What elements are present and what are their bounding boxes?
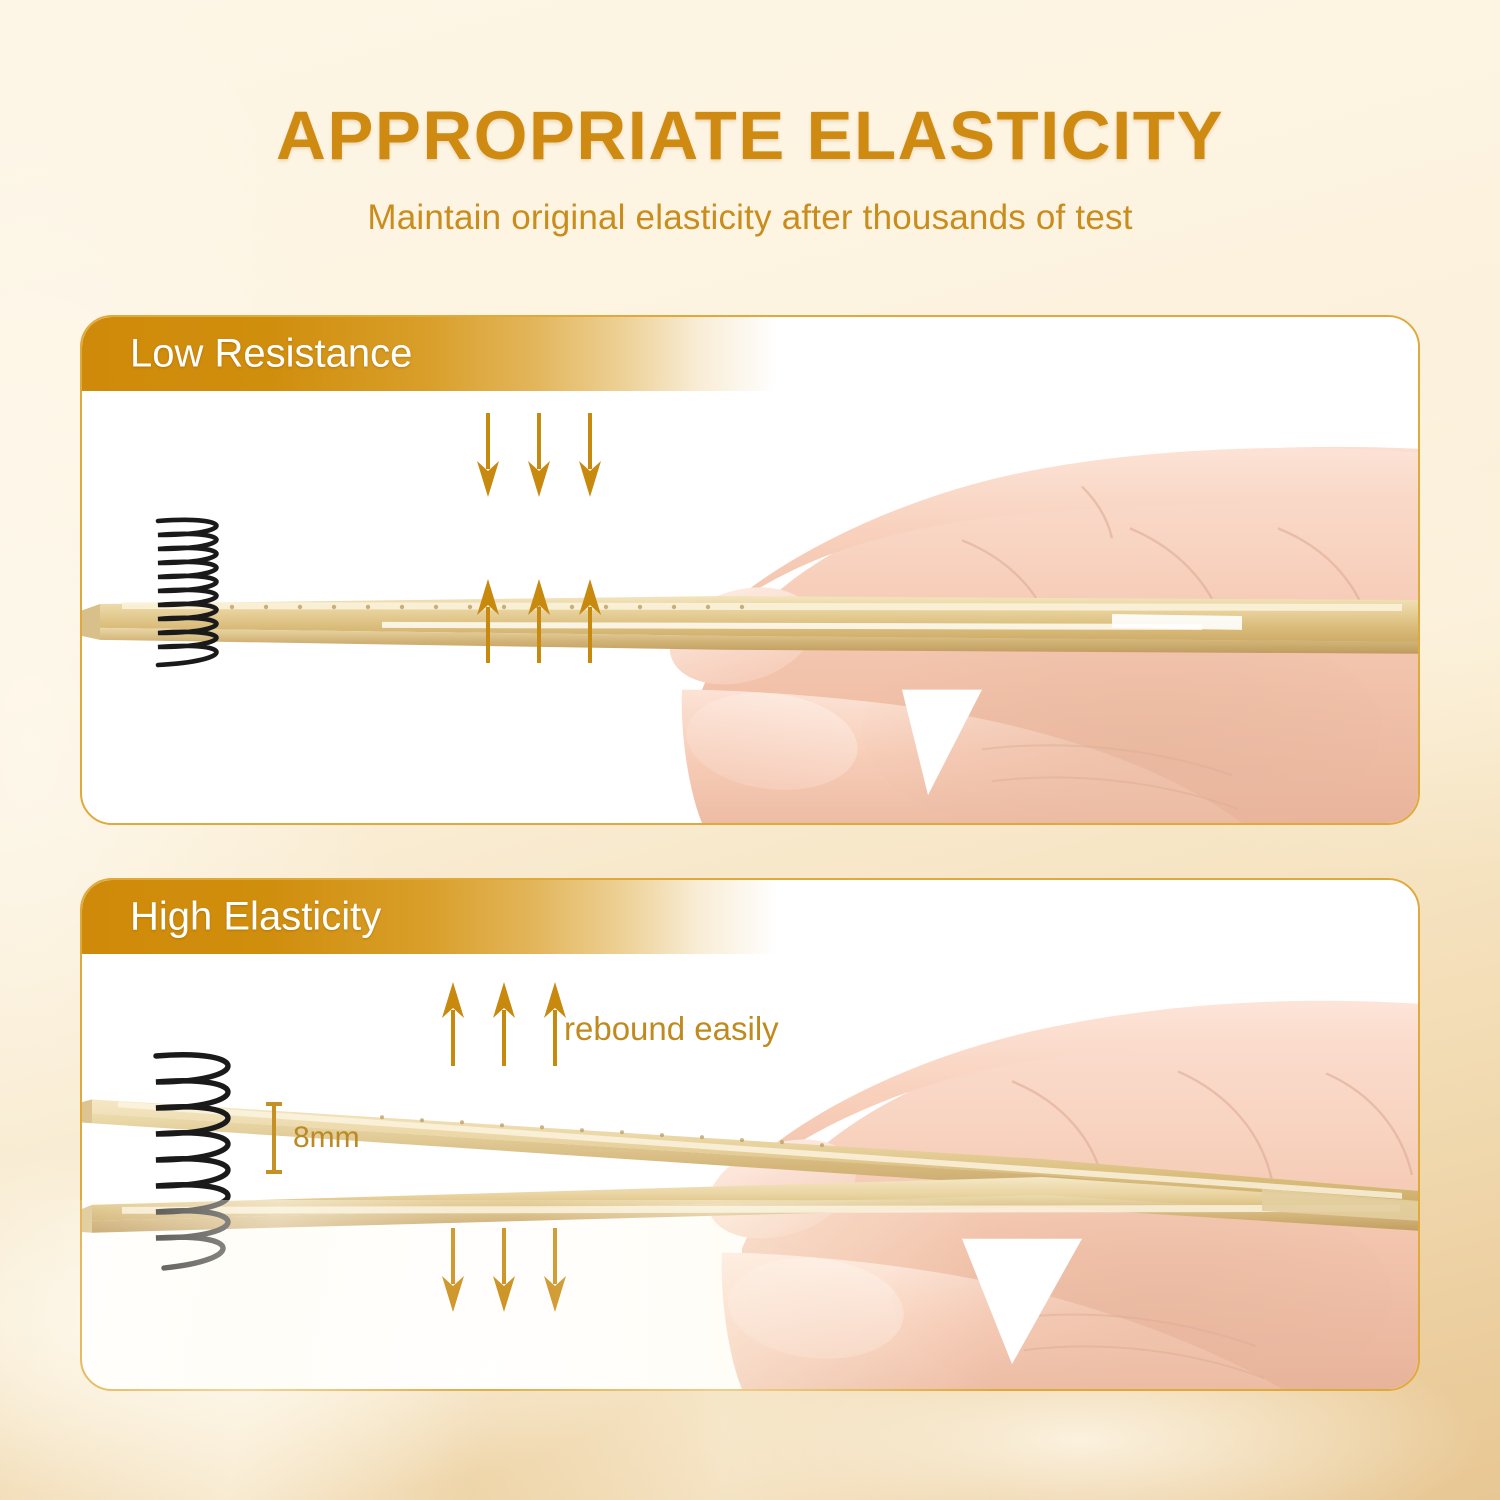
page-title: APPROPRIATE ELASTICITY bbox=[0, 96, 1500, 175]
panel-banner-label-low: Low Resistance bbox=[130, 332, 412, 377]
arrow-up-icon bbox=[442, 982, 464, 1066]
arrow-group-down-low bbox=[477, 413, 601, 497]
arrow-up-icon bbox=[528, 579, 550, 663]
arrow-down-icon bbox=[493, 1228, 515, 1312]
compressed-spring-icon bbox=[140, 513, 250, 673]
arrow-up-icon bbox=[544, 982, 566, 1066]
arrow-group-up-low bbox=[477, 579, 601, 663]
dimension-bar-icon bbox=[264, 1102, 284, 1174]
panel-banner-label-high: High Elasticity bbox=[130, 895, 381, 940]
infographic-canvas: APPROPRIATE ELASTICITY Maintain original… bbox=[0, 0, 1500, 1500]
panel-banner-high: High Elasticity bbox=[82, 880, 1418, 954]
page-subtitle: Maintain original elasticity after thous… bbox=[0, 198, 1500, 238]
arrow-down-icon bbox=[544, 1228, 566, 1312]
arrow-group-down-high bbox=[442, 1228, 566, 1312]
arrow-down-icon bbox=[579, 413, 601, 497]
expanded-spring-icon bbox=[134, 1046, 269, 1276]
panel-body-high: rebound easily 8mm bbox=[82, 954, 1418, 1389]
panel-low-resistance: Low Resistance bbox=[80, 315, 1420, 825]
arrow-down-icon bbox=[442, 1228, 464, 1312]
arrow-group-up-high bbox=[442, 982, 566, 1066]
arrow-down-icon bbox=[477, 413, 499, 497]
rebound-label: rebound easily bbox=[564, 1010, 779, 1048]
panel-body-low bbox=[82, 391, 1418, 823]
gap-dimension-label: 8mm bbox=[293, 1121, 360, 1155]
gap-dimension: 8mm bbox=[264, 1102, 360, 1174]
arrow-up-icon bbox=[579, 579, 601, 663]
arrow-up-icon bbox=[493, 982, 515, 1066]
panel-banner-low: Low Resistance bbox=[82, 317, 1418, 391]
arrow-up-icon bbox=[477, 579, 499, 663]
photo-hand-closed-tweezers bbox=[82, 391, 1418, 823]
arrow-down-icon bbox=[528, 413, 550, 497]
panel-high-elasticity: High Elasticity bbox=[80, 878, 1420, 1391]
header-block: APPROPRIATE ELASTICITY Maintain original… bbox=[0, 96, 1500, 238]
